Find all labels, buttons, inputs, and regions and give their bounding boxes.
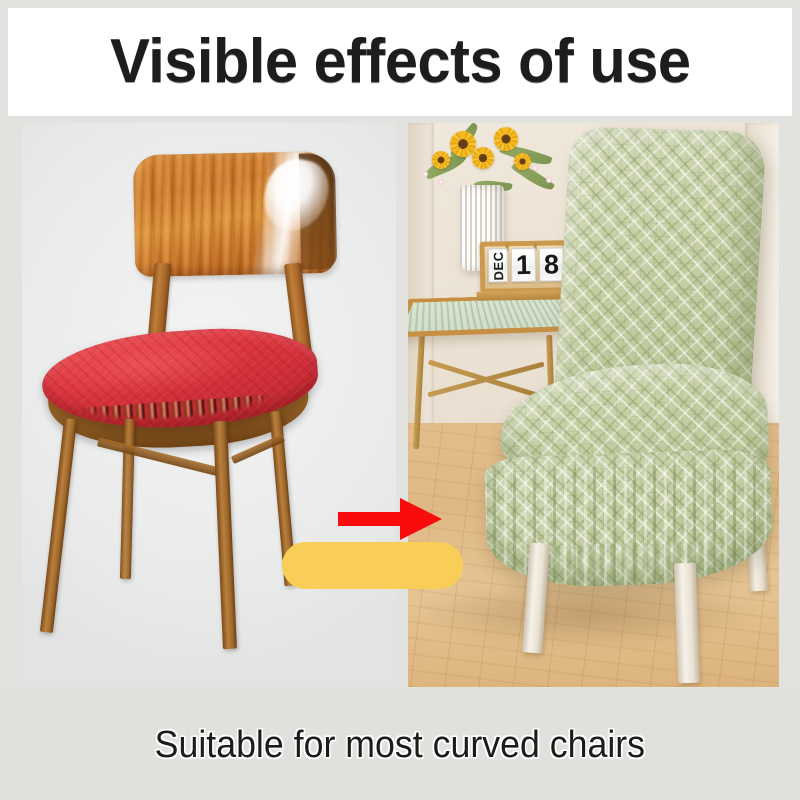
calendar-digit-one: 1: [511, 248, 537, 282]
small-flower-icon: [546, 177, 552, 183]
sunflower-icon: [432, 151, 450, 169]
highlight-pill: [282, 542, 463, 589]
calendar-base: [476, 290, 572, 301]
caption-band: Suitable for most curved chairs: [0, 690, 800, 800]
room-scene: DEC 1 8: [408, 123, 779, 687]
sunflower-icon: [494, 127, 518, 151]
small-flower-icon: [422, 171, 428, 177]
small-flower-icon: [438, 179, 444, 185]
title-band: Visible effects of use: [8, 8, 792, 116]
transformation-arrow: [338, 498, 442, 540]
page-title: Visible effects of use: [110, 31, 690, 93]
calendar-digit-two: 8: [539, 247, 565, 281]
old-chair-illustration: [22, 123, 396, 687]
after-photo: DEC 1 8: [408, 123, 779, 687]
promo-graphic: Visible effects of use: [0, 0, 800, 800]
chair-floor-shadow: [418, 578, 758, 648]
small-flower-icon: [532, 165, 538, 171]
chair-leg-front-left: [40, 418, 77, 633]
calendar-month-card: DEC: [488, 248, 509, 282]
covered-chair-leg-front-right: [674, 563, 700, 684]
before-photo: [22, 123, 396, 687]
before-after-comparison: DEC 1 8: [0, 116, 800, 688]
arrow-right-icon: [338, 498, 442, 540]
caption-text: Suitable for most curved chairs: [155, 724, 645, 767]
sunflower-icon: [514, 153, 531, 170]
sunflower-icon: [472, 147, 494, 169]
calendar-month-label: DEC: [491, 251, 505, 280]
flip-calendar: DEC 1 8: [480, 240, 569, 294]
